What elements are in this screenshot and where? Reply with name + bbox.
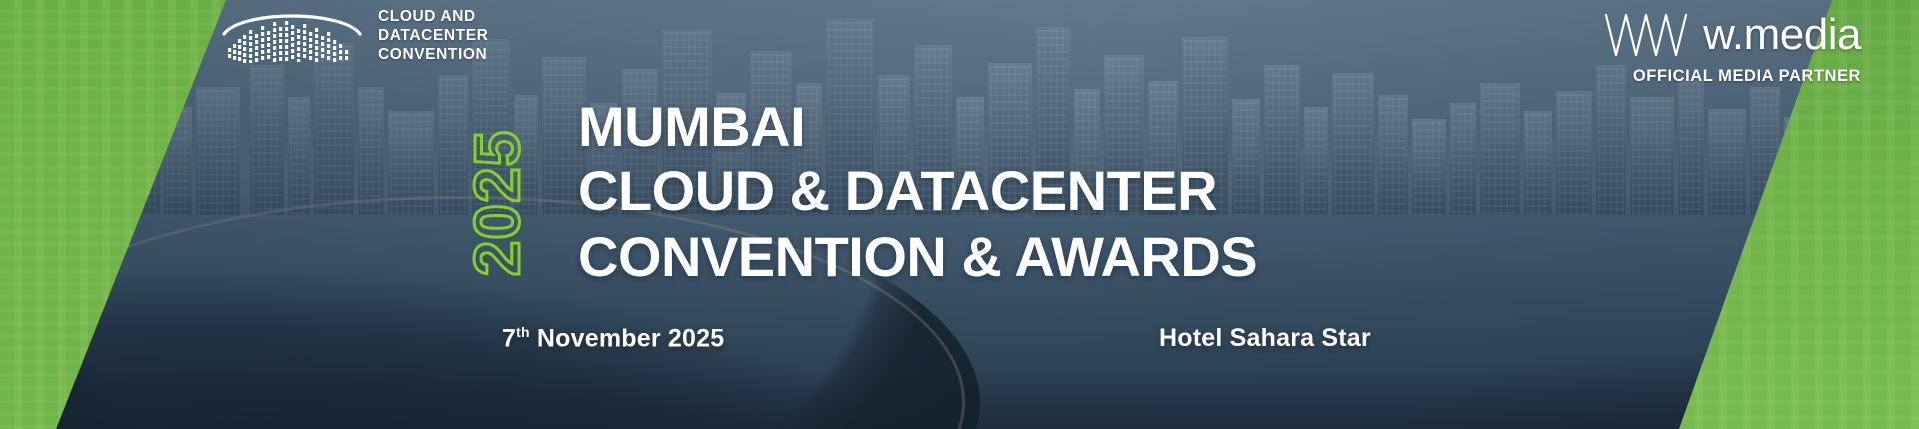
wmedia-logo[interactable]: w.media — [1603, 12, 1861, 58]
year-text: 2025 — [462, 88, 532, 318]
event-venue: Hotel Sahara Star — [1159, 324, 1371, 353]
event-date: 7th November 2025 — [502, 324, 724, 353]
wmedia-wordmark: w.media — [1703, 13, 1861, 57]
cdc-logo-wordmark: CLOUD AND DATACENTER CONVENTION — [378, 8, 488, 65]
title-line-2: CLOUD & DATACENTER — [578, 158, 1257, 224]
cloud-datacenter-convention-logo[interactable]: CLOUD AND DATACENTER CONVENTION — [216, 8, 488, 65]
title-line-3: CONVENTION & AWARDS — [578, 224, 1257, 290]
datacenter-skyline-icon — [216, 8, 368, 64]
event-date-month-year: November 2025 — [537, 324, 724, 352]
year-vertical: 2025 — [462, 88, 532, 318]
cdc-logo-line-1: CLOUD AND — [378, 8, 488, 27]
event-banner: CLOUD AND DATACENTER CONVENTION w.media … — [0, 0, 1919, 429]
media-partner-block[interactable]: w.media OFFICIAL MEDIA PARTNER — [1603, 12, 1861, 86]
event-date-day: 7 — [502, 324, 516, 352]
official-media-partner-label: OFFICIAL MEDIA PARTNER — [1603, 67, 1861, 86]
event-date-ordinal: th — [516, 324, 530, 340]
cdc-logo-line-3: CONVENTION — [378, 46, 488, 65]
cdc-logo-line-2: DATACENTER — [378, 27, 488, 46]
title-line-1: MUMBAI — [578, 96, 1257, 158]
wmedia-wave-icon — [1603, 12, 1689, 58]
event-title: MUMBAI CLOUD & DATACENTER CONVENTION & A… — [578, 96, 1257, 290]
